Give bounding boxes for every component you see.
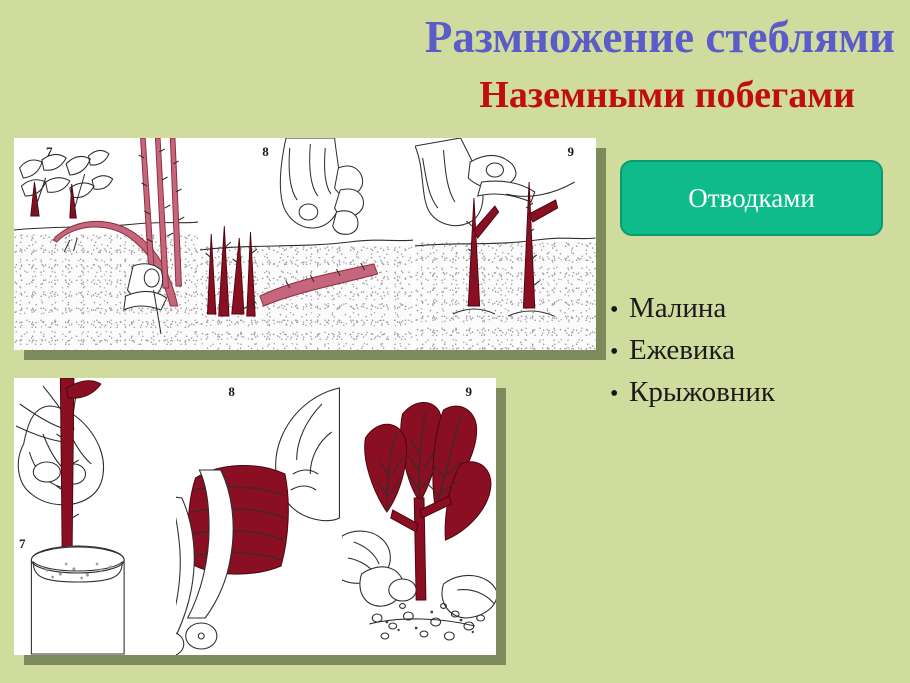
figure-panel-top-7: 7 — [14, 138, 198, 350]
panel-number: 8 — [228, 384, 235, 400]
bullet-marker-icon: • — [610, 332, 629, 372]
list-item-label: Малина — [629, 288, 726, 328]
panel-number: 9 — [465, 384, 472, 400]
callout-label: Отводками — [688, 183, 815, 213]
list-item-label: Крыжовник — [629, 372, 775, 412]
panel-number: 7 — [19, 536, 26, 552]
callout-box-otvodkami[interactable]: Отводками — [620, 160, 883, 236]
page-title: Размножение стеблями — [0, 12, 895, 62]
figure-panel-bottom-9: 9 — [340, 378, 496, 655]
panel-number: 7 — [46, 144, 53, 160]
figure-panel-bottom-8: 8 — [174, 378, 339, 655]
figure-block-top: 7 — [14, 138, 596, 350]
figure-panel-top-8: 8 — [198, 138, 413, 350]
figure-panel-bottom-7: 7 — [14, 378, 174, 655]
figure-panel-top-9: 9 — [413, 138, 596, 350]
list-item: • Ежевика — [610, 330, 900, 372]
list-item: • Крыжовник — [610, 372, 900, 414]
bullet-marker-icon: • — [610, 290, 629, 330]
list-item-label: Ежевика — [629, 330, 735, 370]
panel-number: 9 — [568, 144, 575, 160]
page-subtitle: Наземными побегами — [0, 74, 855, 116]
slide-canvas: Размножение стеблями Наземными побегами … — [0, 0, 910, 683]
figure-block-bottom: 7 — [14, 378, 496, 655]
bullet-list: • Малина • Ежевика • Крыжовник — [610, 288, 900, 414]
panel-number: 8 — [262, 144, 269, 160]
list-item: • Малина — [610, 288, 900, 330]
bullet-marker-icon: • — [610, 374, 629, 414]
